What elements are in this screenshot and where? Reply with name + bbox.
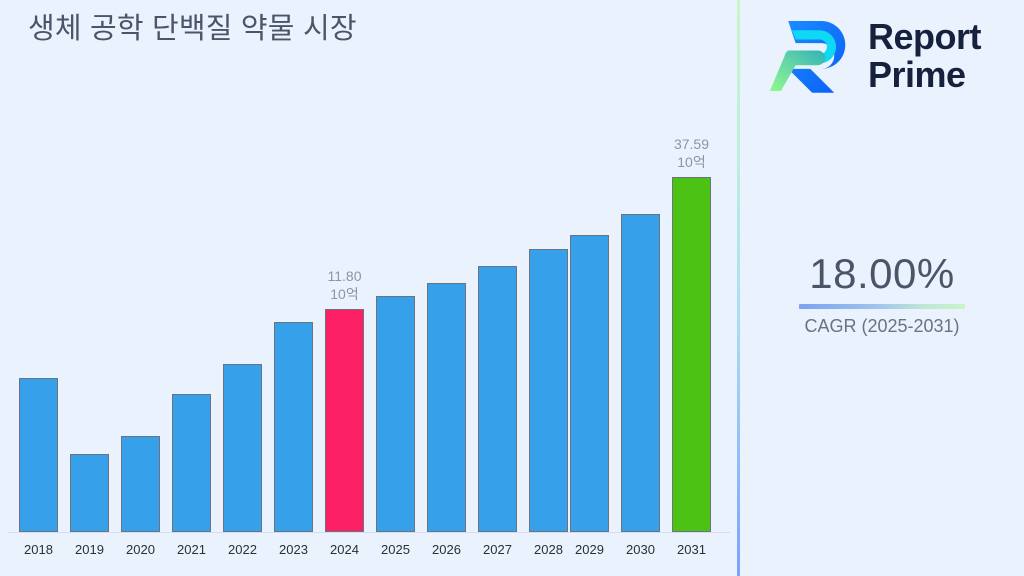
bar-value-number-2024: 11.80 <box>295 267 395 285</box>
bar-2026 <box>427 283 466 532</box>
bar-value-label-2031: 37.5910억 <box>642 135 742 171</box>
bar-2030 <box>621 214 660 532</box>
bar-2024 <box>325 309 364 532</box>
x-tick-label-2031: 2031 <box>662 542 722 558</box>
x-axis-line <box>8 532 730 533</box>
cagr-caption: CAGR (2025-2031) <box>740 314 1024 338</box>
bar-2029 <box>570 235 609 532</box>
chart-infographic: 생체 공학 단백질 약물 시장 11.8010억37.5910억 2018201… <box>0 0 1024 576</box>
bar-2025 <box>376 296 415 532</box>
bar-2018 <box>19 378 58 532</box>
chart-panel: 생체 공학 단백질 약물 시장 11.8010억37.5910억 2018201… <box>0 0 738 576</box>
bar-value-unit-2031: 10억 <box>642 153 742 171</box>
plot-area: 11.8010억37.5910억 <box>0 0 738 533</box>
bar-2022 <box>223 364 262 532</box>
cagr-divider <box>799 304 965 309</box>
bar-2027 <box>478 266 517 532</box>
bar-2019 <box>70 454 109 532</box>
report-prime-logo-mark-icon <box>768 10 860 102</box>
bar-2021 <box>172 394 211 532</box>
cagr-block: 18.00% CAGR (2025-2031) <box>740 248 1024 338</box>
bar-2028 <box>529 249 568 532</box>
logo-wordmark-line2: Prime <box>868 56 981 94</box>
report-prime-logo: Report Prime <box>768 10 1008 102</box>
bar-2020 <box>121 436 160 532</box>
logo-wordmark: Report Prime <box>868 18 981 94</box>
cagr-value: 18.00% <box>740 248 1024 300</box>
bar-2023 <box>274 322 313 532</box>
bar-value-number-2031: 37.59 <box>642 135 742 153</box>
info-panel: Report Prime 18.00% CAGR (2025-2031) <box>740 0 1024 576</box>
bar-2031 <box>672 177 711 532</box>
logo-wordmark-line1: Report <box>868 18 981 56</box>
